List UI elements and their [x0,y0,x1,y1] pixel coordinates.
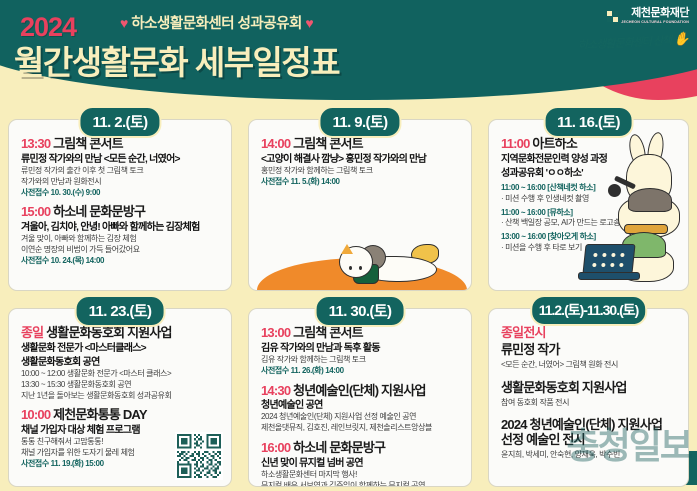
event-detail: 2024 청년예술인(단체) 지원사업 선정 예술인 공연 [261,412,461,423]
event-detail: 류민정 작가의 출간 이후 첫 그림책 토크 [21,166,221,177]
event-registration: 사전접수 11. 5.(화) 14:00 [261,177,461,188]
event-subtitle-2: 생활문화동호회 공연 [21,357,221,369]
event-name: 생활문화동호회 지원사업 [46,325,172,340]
event-registration: 사전접수 10. 30.(수) 9:00 [21,188,221,199]
foundation-mark-icon [607,11,618,22]
event-subtitle: 청년예술인 공연 [261,400,461,412]
event-detail: 이연순 명장의 비법이 가득 들어갔어요 [21,245,221,256]
logo-block: 제천문화재단 JECHEON CULTURAL FOUNDATION 하소생활문… [578,8,689,50]
page-title: 월간생활문화 세부일정표 [14,36,339,84]
event-subtitle: 겨울아, 김치야, 안녕! 아빠와 함께하는 김장체험 [21,222,221,234]
cushion-shape [257,258,467,291]
schedule-card-5[interactable]: 13:00 그림책 콘서트 김유 작가와의 만남과 독후 활동 김유 작가와 함… [248,308,472,487]
schedule-cell-2: 11. 9.(토) 14:00 그림책 콘서트 <고양이 해결사 깜냥> 홍민정… [240,106,480,295]
laptop-base-icon [578,272,640,280]
event-detail: 10:00 ~ 12:00 생활문화 전문가 <마스터 클래스> [21,369,221,380]
event-detail: 하소생활문화센터 마지막 행사! [261,470,461,481]
session-label: [찾아오게 하소] [548,232,596,241]
date-badge-2: 11. 9.(토) [318,106,401,138]
event-detail: 겨울 맞이, 아빠와 함께하는 김장 체험 [21,234,221,245]
schedule-card-4[interactable]: 종일 생활문화동호회 지원사업 생활문화 전문가 <마스터클래스> 생활문화동호… [8,308,232,487]
event-name: 2024 청년예술인(단체) 지원사업 [501,418,678,433]
date-badge-5: 11. 30.(토) [315,295,406,327]
session-time: 11:00 ~ 16:00 [501,208,545,217]
qr-code[interactable] [175,432,223,480]
event-subtitle: 김유 작가와의 만남과 독후 활동 [261,343,461,355]
event-name: 류민정 작가 [501,343,678,358]
schedule-cell-5: 11. 30.(토) 13:00 그림책 콘서트 김유 작가와의 만남과 독후 … [240,295,480,491]
foundation-logo: 제천문화재단 JECHEON CULTURAL FOUNDATION [578,8,689,24]
event-item: 생활문화동호회 지원사업 참여 동호회 작품 전시 [501,381,678,409]
laptop-screen-icon [582,244,635,274]
event-detail: 참여 동호회 작품 전시 [501,398,678,409]
event-name: 그림책 콘서트 [53,136,123,151]
event-subtitle: 류민정 작가와의 만남 <모든 순간, 너였어> [21,154,221,166]
session-time: 13:00 ~ 16:00 [501,232,546,241]
event-detail: 윤지희, 박세미, 안숙현, 양재욱, 박수빈 [501,450,678,461]
qr-code-icon [177,434,221,478]
event-name: 생활문화동호회 지원사업 [501,381,678,396]
event-subtitle: 신년 맞이 뮤지컬 넘버 공연 [261,458,461,470]
event-name: 하소네 문화문방구 [293,440,385,455]
date-badge-1: 11. 2.(토) [78,106,161,138]
event-time: 15:00 [21,204,50,219]
event-item: 14:30 청년예술인(단체) 지원사업 청년예술인 공연 2024 청년예술인… [261,384,461,435]
event-item: 13:00 그림책 콘서트 김유 작가와의 만남과 독후 활동 김유 작가와 함… [261,326,461,377]
event-detail: 13:30 ~ 15:30 생활문화동호회 공연 [21,380,221,391]
heart-icon-left: ♥ [120,15,128,31]
event-time: 종일 [21,325,43,340]
event-heading: 15:00 하소네 문화문방구 [21,205,221,220]
event-time: 14:00 [261,136,290,151]
cat-mascot-icon [333,238,441,284]
schedule-cell-6: 11.2.(토)-11.30.(토) 종일전시 류민정 작가 <모든 순간, 너… [480,295,697,491]
event-name-2: 선정 예술인 전시 [501,433,678,448]
poster-subtitle: ♥ 하소생활문화센터 성과공유회 ♥ [120,12,313,33]
event-time: 10:00 [21,407,50,422]
schedule-grid: 11. 2.(토) 13:30 그림책 콘서트 류민정 작가와의 만남 <모든 … [0,106,697,491]
event-name: 하소네 문화문방구 [53,204,145,219]
event-detail: 작가와의 만남과 원화전시 [21,177,221,188]
event-registration: 사전접수 11. 26.(화) 14:00 [261,366,461,377]
event-detail: 제천올댓뮤직, 김호진, 레인브릿지, 제천솔리스트앙상블 [261,423,461,434]
stacked-animals-illustration [602,140,688,290]
event-item: 종일 생활문화동호회 지원사업 생활문화 전문가 <마스터클래스> 생활문화동호… [21,326,221,401]
event-time: 13:30 [21,136,50,151]
date-badge-4: 11. 23.(토) [75,295,166,327]
event-item: 2024 청년예술인(단체) 지원사업 선정 예술인 전시 윤지희, 박세미, … [501,418,678,461]
schedule-cell-1: 11. 2.(토) 13:30 그림책 콘서트 류민정 작가와의 만남 <모든 … [0,106,240,295]
schedule-card-6[interactable]: 종일전시 류민정 작가 <모든 순간, 너였어> 그림책 원화 전시 생활문화동… [488,308,689,487]
event-time: 14:30 [261,383,290,398]
event-heading: 16:00 하소네 문화문방구 [261,441,461,456]
foundation-name-en: JECHEON CULTURAL FOUNDATION [621,21,689,25]
event-name: 그림책 콘서트 [293,136,363,151]
event-detail: 지난 1년을 돌아보는 생활문화동호회 성과공유회 [21,391,221,402]
event-detail: 홍민정 작가와 함께하는 그림책 토크 [261,166,461,177]
schedule-card-1[interactable]: 13:30 그림책 콘서트 류민정 작가와의 만남 <모든 순간, 너였어> 류… [8,119,232,291]
event-name: 아트하소 [532,136,577,151]
event-item: 13:30 그림책 콘서트 류민정 작가와의 만남 <모든 순간, 너였어> 류… [21,137,221,198]
schedule-card-2[interactable]: 14:00 그림책 콘서트 <고양이 해결사 깜냥> 홍민정 작가와의 만남 홍… [248,119,472,291]
center-brush-logo: 하소생활문화센터 산책 ✋ [578,31,689,53]
event-item: 15:00 하소네 문화문방구 겨울아, 김치야, 안녕! 아빠와 함께하는 김… [21,205,221,266]
schedule-cell-4: 11. 23.(토) 종일 생활문화동호회 지원사업 생활문화 전문가 <마스터… [0,295,240,491]
schedule-card-3[interactable]: 11:00 아트하소 지역문화전문인력 양성 과정 성과공유회 'ㅇㅇ하소' 1… [488,119,689,291]
event-heading: 10:00 제천문화통통 DAY [21,408,221,423]
event-subtitle: <고양이 해결사 깜냥> 홍민정 작가와의 만남 [261,154,461,166]
session-label: [산책네컷 하소] [547,183,595,192]
event-time: 16:00 [261,440,290,455]
event-name: 청년예술인(단체) 지원사업 [293,383,426,398]
event-item: 16:00 하소네 문화문방구 신년 맞이 뮤지컬 넘버 공연 하소생활문화센터… [261,441,461,487]
heart-icon-right: ♥ [305,15,313,31]
poster-root: 2024 ♥ 하소생활문화센터 성과공유회 ♥ 월간생활문화 세부일정표 제천문… [0,0,697,491]
subtitle-text: 하소생활문화센터 성과공유회 [131,16,301,32]
event-heading: 13:00 그림책 콘서트 [261,326,461,341]
event-detail: <모든 순간, 너였어> 그림책 원화 전시 [501,360,678,371]
session-label: [뮤하소] [547,208,572,217]
session-time: 11:00 ~ 16:00 [501,183,545,192]
event-time: 11:00 [501,136,530,151]
hand-icon: ✋ [673,31,689,47]
event-registration: 사전접수 10. 24.(목) 14:00 [21,256,221,267]
event-heading: 13:30 그림책 콘서트 [21,137,221,152]
event-item: 종일전시 류민정 작가 <모든 순간, 너였어> 그림책 원화 전시 [501,326,678,371]
event-time: 종일전시 [501,325,546,340]
microphone-icon [608,184,621,197]
event-heading: 14:30 청년예술인(단체) 지원사업 [261,384,461,399]
cat-hat-icon [628,188,672,212]
event-name: 그림책 콘서트 [293,325,363,340]
schedule-cell-3: 11. 16.(토) 11:00 아트하소 지역문화전문인력 양성 과정 성과공… [480,106,697,295]
event-time: 13:00 [261,325,290,340]
event-item: 14:00 그림책 콘서트 <고양이 해결사 깜냥> 홍민정 작가와의 만남 홍… [261,137,461,188]
event-detail: 뮤지컬 배우 서보영과 김주임이 함께하는 뮤지컬 공연 [261,481,461,487]
event-heading: 종일 생활문화동호회 지원사업 [21,326,221,341]
date-badge-3: 11. 16.(토) [543,106,634,138]
event-heading: 14:00 그림책 콘서트 [261,137,461,152]
event-subtitle: 생활문화 전문가 <마스터클래스> [21,343,221,355]
date-badge-6: 11.2.(토)-11.30.(토) [530,295,648,326]
event-detail: 김유 작가와 함께하는 그림책 토크 [261,355,461,366]
foundation-name: 제천문화재단 JECHEON CULTURAL FOUNDATION [621,8,689,24]
event-heading: 종일전시 [501,326,678,341]
event-name: 제천문화통통 DAY [53,407,147,422]
